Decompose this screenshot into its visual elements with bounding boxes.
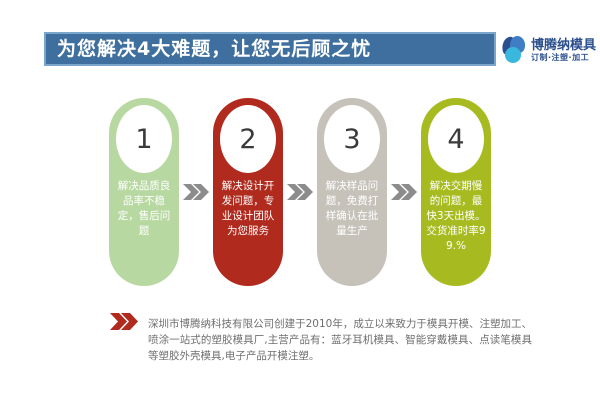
- step-number-circle-1: 1: [116, 105, 172, 173]
- page-header: 为您解决4大难题，让您无后顾之忧 博腾纳模具 订制·注塑·加工: [0, 0, 600, 88]
- company-intro-text: 深圳市博腾纳科技有限公司创建于2010年，成立以来致力于模具开模、注塑加工、喷涂…: [148, 316, 532, 364]
- step-arrow-2: [283, 98, 317, 286]
- step-number-circle-3: 3: [324, 105, 380, 173]
- step-description-3: 解决样品问题，免费打样确认在批量生产: [321, 179, 383, 239]
- double-chevron-right-icon: [183, 184, 209, 200]
- step-number-circle-4: 4: [428, 105, 484, 173]
- step-number-1: 1: [135, 126, 152, 153]
- step-card-3[interactable]: 3 解决样品问题，免费打样确认在批量生产: [317, 98, 387, 286]
- step-description-1: 解决品质良品率不稳定，售后问题: [113, 179, 175, 239]
- logo-tagline: 订制·注塑·加工: [531, 54, 596, 62]
- double-chevron-right-icon: [391, 184, 417, 200]
- step-number-4: 4: [447, 126, 464, 153]
- butterfly-logo-icon: [502, 35, 528, 65]
- page-title-bar: 为您解决4大难题，让您无后顾之忧: [44, 32, 496, 66]
- logo-text-group: 博腾纳模具 订制·注塑·加工: [531, 39, 596, 62]
- double-chevron-right-icon: [287, 184, 313, 200]
- logo-company-name: 博腾纳模具: [531, 39, 596, 52]
- step-description-4: 解决交期慢的问题，最快3天出模。交货准时率99.%: [425, 179, 487, 254]
- note-double-chevron-right-icon: [110, 313, 138, 334]
- step-arrow-1: [179, 98, 213, 286]
- step-number-circle-2: 2: [220, 105, 276, 173]
- step-card-4[interactable]: 4 解决交期慢的问题，最快3天出模。交货准时率99.%: [421, 98, 491, 286]
- step-number-2: 2: [239, 126, 256, 153]
- step-card-2[interactable]: 2 解决设计开发问题，专业设计团队为您服务: [213, 98, 283, 286]
- steps-row: 1 解决品质良品率不稳定，售后问题 2 解决设计开发问题，专业设计团队为您服务 …: [0, 98, 600, 290]
- step-description-2: 解决设计开发问题，专业设计团队为您服务: [217, 179, 279, 239]
- page-title: 为您解决4大难题，让您无后顾之忧: [46, 40, 371, 59]
- step-arrow-3: [387, 98, 421, 286]
- step-number-3: 3: [343, 126, 360, 153]
- step-card-1[interactable]: 1 解决品质良品率不稳定，售后问题: [109, 98, 179, 286]
- company-intro-note: 深圳市博腾纳科技有限公司创建于2010年，成立以来致力于模具开模、注塑加工、喷涂…: [0, 305, 600, 377]
- company-logo[interactable]: 博腾纳模具 订制·注塑·加工: [502, 30, 594, 70]
